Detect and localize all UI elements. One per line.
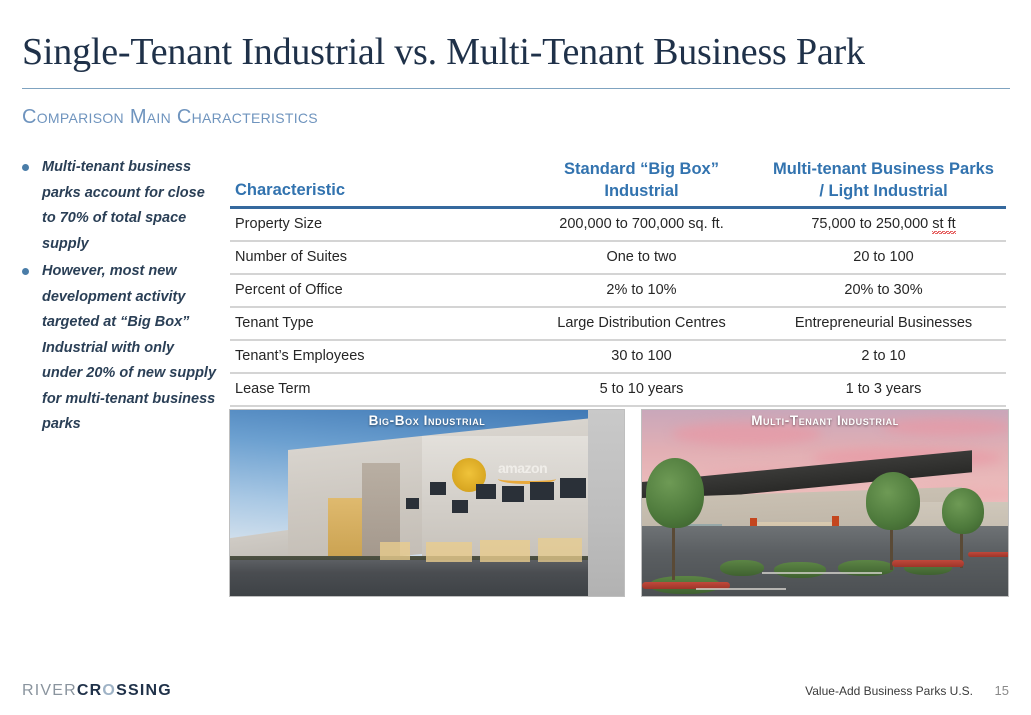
red-curb	[968, 552, 1009, 557]
brand-logo: RIVERCROSSING	[22, 682, 172, 700]
table-row: Tenant Type Large Distribution Centres E…	[230, 308, 1006, 341]
cell-multitenant: 1 to 3 years	[761, 374, 1006, 405]
page-title: Single-Tenant Industrial vs. Multi-Tenan…	[22, 29, 865, 75]
comparison-table: Characteristic Standard “Big Box” Indust…	[230, 158, 1006, 407]
tree	[866, 472, 920, 530]
image-edge-panel	[588, 410, 624, 596]
bullet-dot-icon	[22, 268, 29, 275]
photo-caption-left: Big-Box Industrial	[230, 413, 624, 428]
section-subtitle: Comparison Main Characteristics	[22, 104, 318, 130]
photo-multi-tenant-industrial: Multi-Tenant Industrial	[641, 409, 1009, 597]
footer-note: Value-Add Business Parks U.S.	[805, 684, 973, 698]
red-curb	[892, 560, 964, 567]
cell-bigbox: 30 to 100	[522, 341, 761, 372]
cell-characteristic: Lease Term	[230, 374, 522, 405]
lot-stripe	[762, 572, 882, 574]
column-header-bigbox-line2: Industrial	[522, 180, 761, 202]
column-header-multitenant: Multi-tenant Business Parks / Light Indu…	[761, 158, 1006, 206]
cell-bigbox: 5 to 10 years	[522, 374, 761, 405]
cell-bigbox: One to two	[522, 242, 761, 273]
cell-multitenant: 75,000 to 250,000 st ft	[761, 209, 1006, 240]
lit-window	[480, 540, 530, 562]
bullet-dot-icon	[22, 164, 29, 171]
cell-multitenant: 2 to 10	[761, 341, 1006, 372]
column-header-characteristic: Characteristic	[230, 179, 522, 206]
tree	[646, 458, 704, 528]
window	[502, 486, 524, 502]
cell-bigbox: 2% to 10%	[522, 275, 761, 306]
shrub	[720, 560, 764, 576]
lit-window	[380, 542, 410, 560]
logo-river: RIVER	[22, 682, 77, 699]
window	[406, 498, 419, 509]
cell-bigbox: 200,000 to 700,000 sq. ft.	[522, 209, 761, 240]
cell-multitenant: 20 to 100	[761, 242, 1006, 273]
logo-o: O	[102, 682, 116, 699]
window	[530, 482, 554, 500]
cell-characteristic: Property Size	[230, 209, 522, 240]
lot-stripe	[696, 588, 786, 590]
shrub	[774, 562, 826, 578]
table-header-row: Characteristic Standard “Big Box” Indust…	[230, 158, 1006, 206]
column-header-multitenant-line1: Multi-tenant Business Parks	[761, 158, 1006, 180]
list-item: However, most new development activity t…	[22, 259, 218, 438]
parking-lot	[230, 560, 624, 596]
cell-multitenant: 20% to 30%	[761, 275, 1006, 306]
photo-big-box-industrial: amazon Big-Box Industrial	[229, 409, 625, 597]
window	[452, 500, 468, 513]
table-row: Percent of Office 2% to 10% 20% to 30%	[230, 275, 1006, 308]
cell-characteristic: Percent of Office	[230, 275, 522, 306]
cell-multitenant-prefix: 75,000 to 250,000	[811, 216, 932, 232]
table-row: Tenant’s Employees 30 to 100 2 to 10	[230, 341, 1006, 374]
cell-characteristic: Number of Suites	[230, 242, 522, 273]
cell-characteristic: Tenant Type	[230, 308, 522, 339]
photo-caption-right: Multi-Tenant Industrial	[642, 413, 1008, 428]
column-header-bigbox-line1: Standard “Big Box”	[522, 158, 761, 180]
page-number: 15	[995, 683, 1009, 698]
lit-window	[426, 542, 472, 562]
window	[560, 478, 586, 498]
table-body: Property Size 200,000 to 700,000 sq. ft.…	[230, 209, 1006, 407]
window	[476, 484, 496, 499]
table-row: Property Size 200,000 to 700,000 sq. ft.…	[230, 209, 1006, 242]
column-header-multitenant-line2: / Light Industrial	[761, 180, 1006, 202]
cell-multitenant-misspelling: st ft	[932, 216, 955, 234]
tree	[942, 488, 984, 534]
big-box-scene: amazon	[230, 410, 624, 596]
window	[430, 482, 446, 495]
table-row: Number of Suites One to two 20 to 100	[230, 242, 1006, 275]
logo-ssing: SSING	[116, 682, 172, 699]
cell-characteristic: Tenant’s Employees	[230, 341, 522, 372]
cell-multitenant: Entrepreneurial Businesses	[761, 308, 1006, 339]
slide: Single-Tenant Industrial vs. Multi-Tenan…	[0, 0, 1031, 715]
lit-window	[538, 538, 582, 562]
cell-bigbox: Large Distribution Centres	[522, 308, 761, 339]
logo-cr: CR	[77, 682, 103, 699]
bullet-list: Multi-tenant business parks account for …	[22, 155, 218, 440]
table-row: Lease Term 5 to 10 years 1 to 3 years	[230, 374, 1006, 407]
bullet-text: However, most new development activity t…	[42, 259, 218, 438]
title-divider	[22, 88, 1010, 89]
column-header-bigbox: Standard “Big Box” Industrial	[522, 158, 761, 206]
multi-tenant-scene	[642, 410, 1008, 596]
bullet-text: Multi-tenant business parks account for …	[42, 155, 218, 257]
list-item: Multi-tenant business parks account for …	[22, 155, 218, 257]
